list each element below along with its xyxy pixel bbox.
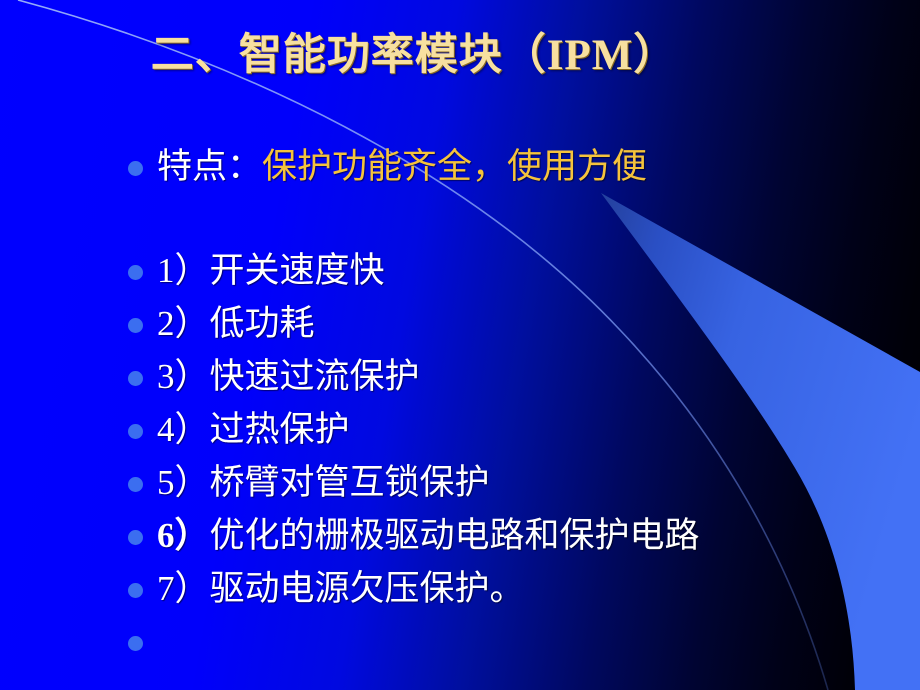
presentation-slide: 二、智能功率模块（IPM） 特点：保护功能齐全，使用方便1）开关速度快2）低功耗… [0,0,920,690]
bullet-dot-icon [128,530,143,545]
bullet-item: 1）开关速度快 [128,250,888,303]
bullet-item-label: 2）低功耗 [157,303,315,345]
bullet-item-label: 6）优化的栅极驱动电路和保护电路 [157,515,700,557]
bullet-item-label: 1）开关速度快 [157,250,385,292]
bullet-dot-icon [128,424,143,439]
bullet-dot-icon [128,371,143,386]
bullet-item-label: 7）驱动电源欠压保护。 [157,568,525,610]
bullet-dot-icon [128,583,143,598]
bullet-item-label: 3）快速过流保护 [157,356,420,398]
bullet-text-segment: 7）驱动电源欠压保护。 [157,569,525,608]
bullet-text-segment: 特点： [157,147,262,186]
bullet-text-segment: 保护功能齐全，使用方便 [262,147,647,186]
bullet-item: 2）低功耗 [128,303,888,356]
bullet-item-label: 4）过热保护 [157,409,350,451]
bullet-text-segment: 4）过热保护 [157,410,350,449]
bullet-item: 特点：保护功能齐全，使用方便 [128,146,888,250]
bullet-dot-icon [128,265,143,280]
bullet-text-segment: 1）开关速度快 [157,251,385,290]
bullet-text-segment: 优化的栅极驱动电路和保护电路 [210,516,700,555]
bullet-item: 5）桥臂对管互锁保护 [128,462,888,515]
bullet-text-segment: 3）快速过流保护 [157,357,420,396]
bullet-item: 4）过热保护 [128,409,888,462]
bullet-item: 6）优化的栅极驱动电路和保护电路 [128,515,888,568]
bullet-dot-icon [128,636,143,651]
bullet-text-segment: 6） [157,516,210,555]
slide-title: 二、智能功率模块（IPM） [0,32,828,80]
bullet-item [128,621,888,674]
bullet-item: 3）快速过流保护 [128,356,888,409]
bullet-item-label: 5）桥臂对管互锁保护 [157,462,490,504]
bullet-item: 7）驱动电源欠压保护。 [128,568,888,621]
bullet-text-segment: 2）低功耗 [157,304,315,343]
bullet-dot-icon [128,161,143,176]
bullet-dot-icon [128,318,143,333]
bullet-item-label: 特点：保护功能齐全，使用方便 [157,146,647,188]
bullet-list: 特点：保护功能齐全，使用方便1）开关速度快2）低功耗3）快速过流保护4）过热保护… [128,146,888,674]
bullet-dot-icon [128,477,143,492]
bullet-text-segment: 5）桥臂对管互锁保护 [157,463,490,502]
